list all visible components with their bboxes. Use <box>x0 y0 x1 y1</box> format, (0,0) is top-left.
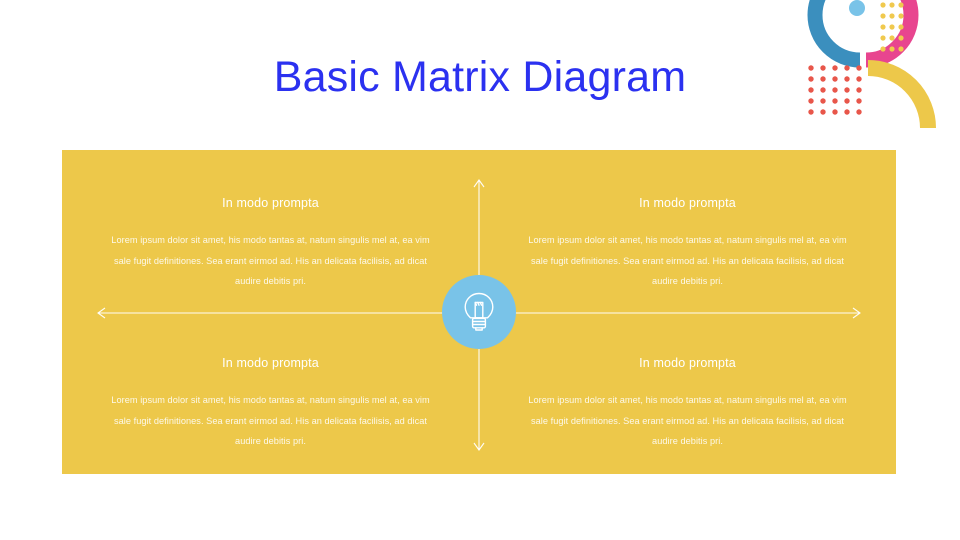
blue-dot-icon <box>849 0 865 16</box>
quadrant-body: Lorem ipsum dolor sit amet, his modo tan… <box>106 230 436 292</box>
quadrant-top-left[interactable]: In modo prompta Lorem ipsum dolor sit am… <box>62 150 479 312</box>
quadrant-body: Lorem ipsum dolor sit amet, his modo tan… <box>523 390 853 452</box>
quadrant-body: Lorem ipsum dolor sit amet, his modo tan… <box>106 390 436 452</box>
page-title: Basic Matrix Diagram <box>0 49 960 105</box>
slide-canvas: Basic Matrix Diagram <box>0 0 960 540</box>
quadrant-heading: In modo prompta <box>639 355 736 371</box>
quadrant-heading: In modo prompta <box>639 195 736 211</box>
quadrant-heading: In modo prompta <box>222 195 319 211</box>
matrix-panel: In modo prompta Lorem ipsum dolor sit am… <box>62 150 896 474</box>
lightbulb-icon <box>461 291 497 333</box>
yellow-dot-grid-icon <box>880 2 903 51</box>
quadrant-heading: In modo prompta <box>222 355 319 371</box>
quadrant-bottom-right[interactable]: In modo prompta Lorem ipsum dolor sit am… <box>479 312 896 474</box>
quadrant-bottom-left[interactable]: In modo prompta Lorem ipsum dolor sit am… <box>62 312 479 474</box>
center-badge[interactable] <box>442 275 516 349</box>
quadrant-top-right[interactable]: In modo prompta Lorem ipsum dolor sit am… <box>479 150 896 312</box>
quadrant-body: Lorem ipsum dolor sit amet, his modo tan… <box>523 230 853 292</box>
